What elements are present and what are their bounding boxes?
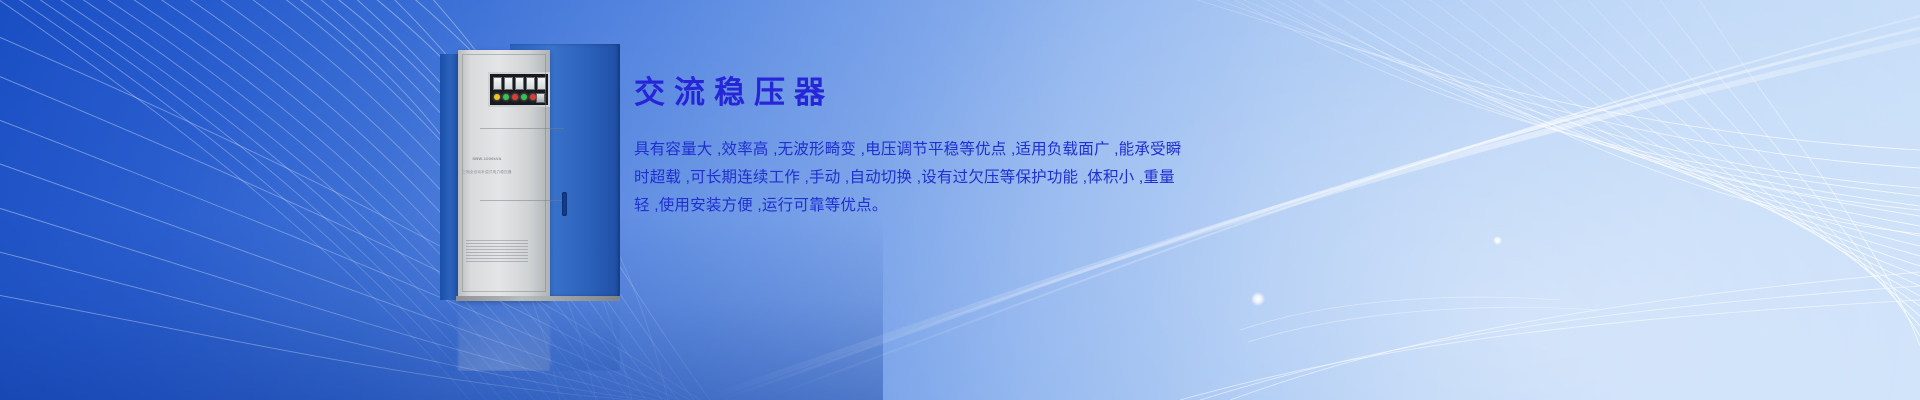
reflection-front-panel <box>458 301 550 371</box>
meter-gauge <box>515 77 524 90</box>
sparkle-icon <box>1251 292 1265 306</box>
nameplate-model: SBW-1000kVA <box>456 156 518 161</box>
meter-gauge <box>526 77 535 90</box>
indicator-lamp-group <box>494 94 536 100</box>
nameplate-description: 三相全自动补偿式电力稳压器 <box>456 170 518 175</box>
panel-seam <box>480 128 564 129</box>
sparkle-small-icon <box>1493 236 1502 245</box>
ventilation-grille <box>466 240 528 262</box>
control-panel <box>488 72 550 107</box>
product-reflection <box>440 301 620 371</box>
panel-seam <box>480 200 564 201</box>
meter-group <box>493 77 546 90</box>
indicator-lamp-red <box>512 94 518 100</box>
meter-gauge <box>493 77 502 90</box>
product-banner: SBW-1000kVA 三相全自动补偿式电力稳压器 交流稳压器 具有容量大 ,效… <box>0 0 1920 400</box>
description-line: 具有容量大 ,效率高 ,无波形畸变 ,电压调节平稳等优点 ,适用负载面广 ,能承… <box>634 136 1174 164</box>
meter-gauge <box>504 77 513 90</box>
indicator-lamp-red <box>530 94 536 100</box>
meter-gauge <box>537 77 546 90</box>
indicator-lamp-green <box>521 94 527 100</box>
product-image-voltage-stabilizer: SBW-1000kVA 三相全自动补偿式电力稳压器 <box>440 44 620 300</box>
indicator-lamp-green <box>503 94 509 100</box>
door-handle <box>562 192 567 216</box>
control-knob <box>536 93 545 103</box>
description-line: 轻 ,使用安装方便 ,运行可靠等优点。 <box>634 192 1174 220</box>
cabinet-front-panel <box>458 50 550 300</box>
banner-text-block: 交流稳压器 具有容量大 ,效率高 ,无波形畸变 ,电压调节平稳等优点 ,适用负载… <box>634 76 1174 220</box>
description-line: 时超载 ,可长期连续工作 ,手动 ,自动切换 ,设有过欠压等保护功能 ,体积小 … <box>634 164 1174 192</box>
banner-description: 具有容量大 ,效率高 ,无波形畸变 ,电压调节平稳等优点 ,适用负载面广 ,能承… <box>634 136 1174 220</box>
banner-headline: 交流稳压器 <box>634 76 1174 110</box>
indicator-lamp-yellow <box>494 94 500 100</box>
